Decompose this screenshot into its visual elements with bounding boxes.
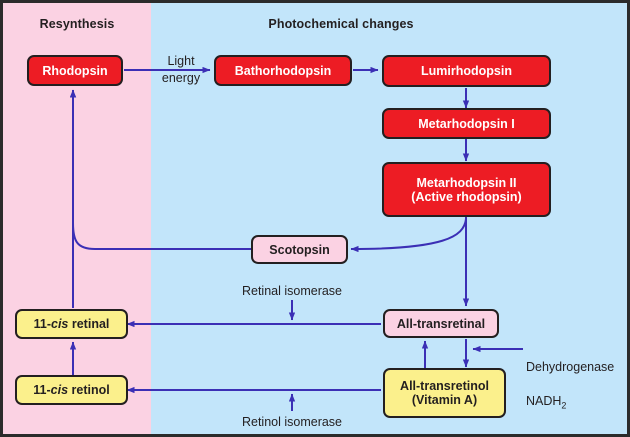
label-dehydrogenase: Dehydrogenase NADH2 bbox=[526, 342, 630, 411]
node-rhodopsin[interactable]: Rhodopsin bbox=[27, 55, 123, 86]
label-light-energy: Light energy bbox=[149, 53, 213, 87]
node-metarhodopsin-2[interactable]: Metarhodopsin II (Active rhodopsin) bbox=[382, 162, 551, 217]
label-retinol-isomerase: Retinol isomerase bbox=[222, 414, 362, 431]
node-scotopsin-label: Scotopsin bbox=[269, 243, 329, 257]
node-all-transretinol-label-line2: (Vitamin A) bbox=[412, 393, 477, 407]
node-metarhodopsin-2-label-line2: (Active rhodopsin) bbox=[411, 190, 521, 204]
label-nadh2: NADH2 bbox=[526, 394, 566, 408]
panel-title-photochemical: Photochemical changes bbox=[151, 17, 531, 31]
node-bathorhodopsin-label: Bathorhodopsin bbox=[235, 64, 332, 78]
node-11-cis-retinol-label: 11-cis retinol bbox=[33, 383, 109, 397]
label-dehydrogenase-text: Dehydrogenase bbox=[526, 360, 614, 374]
node-all-transretinal[interactable]: All-transretinal bbox=[383, 309, 499, 338]
label-retinal-isomerase: Retinal isomerase bbox=[222, 283, 362, 300]
node-bathorhodopsin[interactable]: Bathorhodopsin bbox=[214, 55, 352, 86]
node-all-transretinol[interactable]: All-transretinol (Vitamin A) bbox=[383, 368, 506, 418]
node-scotopsin[interactable]: Scotopsin bbox=[251, 235, 348, 264]
node-all-transretinal-label: All-transretinal bbox=[397, 317, 485, 331]
node-metarhodopsin-1-label: Metarhodopsin I bbox=[418, 117, 515, 131]
node-11-cis-retinal[interactable]: 11-cis retinal bbox=[15, 309, 128, 339]
node-11-cis-retinal-label: 11-cis retinal bbox=[34, 317, 110, 331]
node-metarhodopsin-2-label-line1: Metarhodopsin II bbox=[417, 176, 517, 190]
node-lumirhodopsin[interactable]: Lumirhodopsin bbox=[382, 55, 551, 87]
pathway-diagram: Resynthesis Photochemical changes bbox=[0, 0, 630, 437]
panel-title-resynthesis: Resynthesis bbox=[3, 17, 151, 31]
node-11-cis-retinol[interactable]: 11-cis retinol bbox=[15, 375, 128, 405]
node-all-transretinol-label-line1: All-transretinol bbox=[400, 379, 489, 393]
node-metarhodopsin-1[interactable]: Metarhodopsin I bbox=[382, 108, 551, 139]
node-lumirhodopsin-label: Lumirhodopsin bbox=[421, 64, 512, 78]
node-rhodopsin-label: Rhodopsin bbox=[42, 64, 107, 78]
